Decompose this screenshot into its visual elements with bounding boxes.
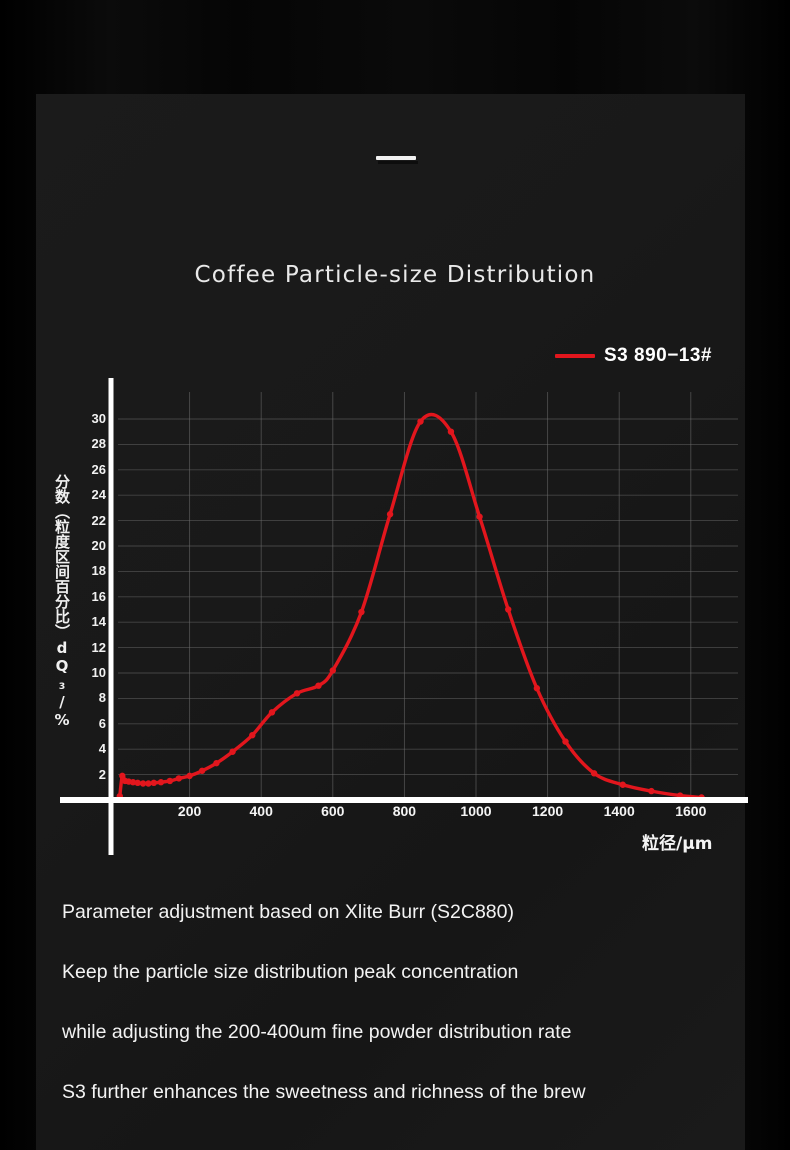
y-tick-8: 8 bbox=[72, 690, 106, 705]
page-root: Coffee Particle-size Distribution S3 890… bbox=[0, 0, 790, 1150]
y-tick-2: 2 bbox=[72, 767, 106, 782]
y-tick-6: 6 bbox=[72, 716, 106, 731]
description-line-1: Parameter adjustment based on Xlite Burr… bbox=[62, 900, 722, 924]
series-markers-0 bbox=[117, 418, 705, 800]
y-tick-20: 20 bbox=[72, 538, 106, 553]
x-tick-400: 400 bbox=[231, 803, 291, 819]
y-tick-16: 16 bbox=[72, 589, 106, 604]
y-axis-title: 分数（粒度区间百分比）dQ₃/% bbox=[48, 474, 70, 729]
y-tick-18: 18 bbox=[72, 563, 106, 578]
y-tick-22: 22 bbox=[72, 513, 106, 528]
description-line-4: S3 further enhances the sweetness and ri… bbox=[62, 1080, 722, 1104]
x-tick-1000: 1000 bbox=[446, 803, 506, 819]
x-tick-1600: 1600 bbox=[661, 803, 721, 819]
y-tick-4: 4 bbox=[72, 741, 106, 756]
y-tick-10: 10 bbox=[72, 665, 106, 680]
y-tick-30: 30 bbox=[72, 411, 106, 426]
y-tick-14: 14 bbox=[72, 614, 106, 629]
x-tick-200: 200 bbox=[160, 803, 220, 819]
x-axis-title: 粒径/μm bbox=[642, 829, 712, 854]
chart-gridlines bbox=[118, 392, 738, 800]
x-tick-1400: 1400 bbox=[589, 803, 649, 819]
y-tick-28: 28 bbox=[72, 436, 106, 451]
y-tick-24: 24 bbox=[72, 487, 106, 502]
description-line-2: Keep the particle size distribution peak… bbox=[62, 960, 722, 984]
x-tick-600: 600 bbox=[303, 803, 363, 819]
y-tick-12: 12 bbox=[72, 640, 106, 655]
x-tick-800: 800 bbox=[374, 803, 434, 819]
description-line-3: while adjusting the 200-400um fine powde… bbox=[62, 1020, 722, 1044]
description-block: Parameter adjustment based on Xlite Burr… bbox=[62, 900, 722, 1104]
y-tick-26: 26 bbox=[72, 462, 106, 477]
x-tick-1200: 1200 bbox=[518, 803, 578, 819]
series-line-0 bbox=[120, 415, 702, 798]
